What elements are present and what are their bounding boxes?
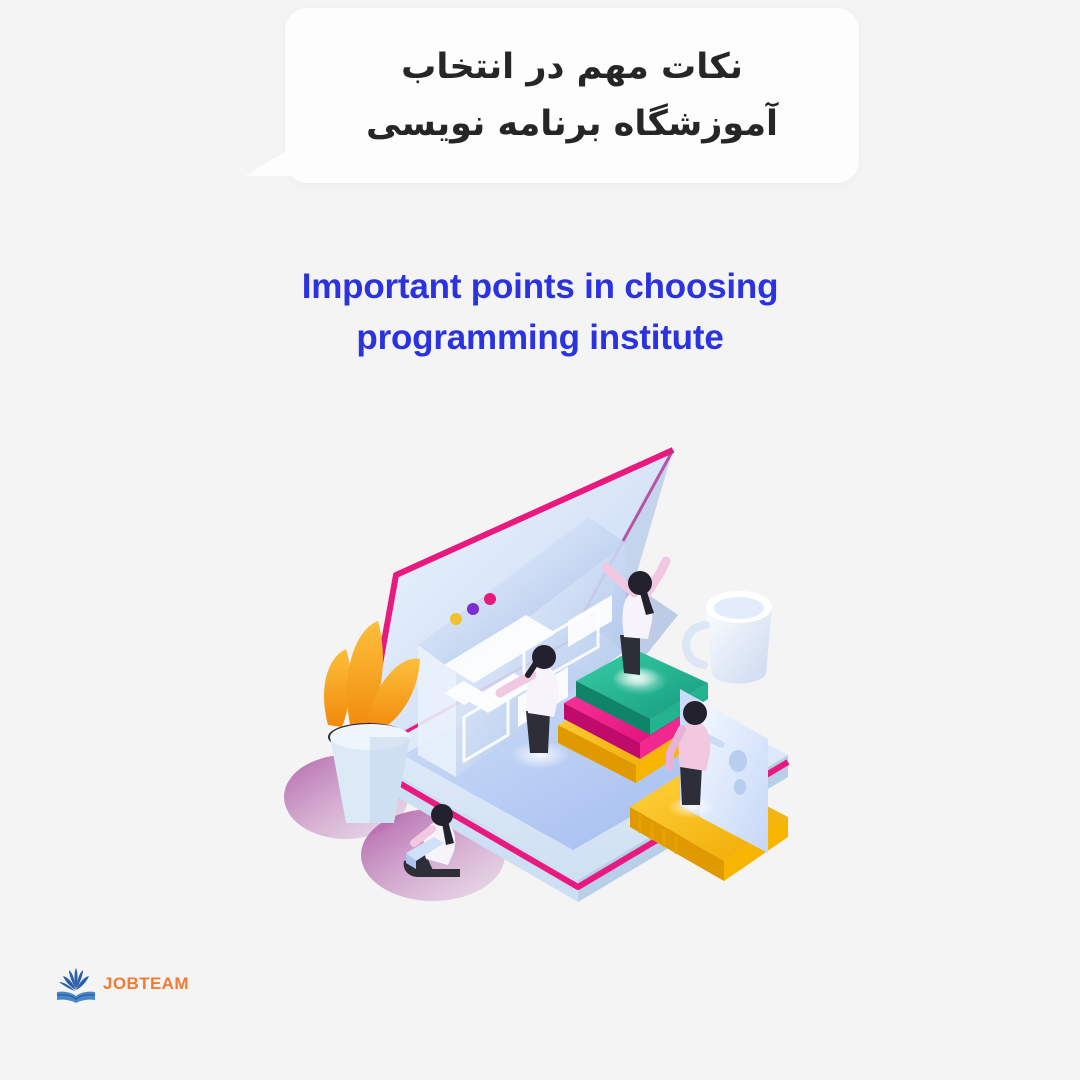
subtitle-group: Important points in choosing programming…	[0, 262, 1080, 364]
brand-logo[interactable]: JOBTEAM	[55, 962, 189, 1006]
brand-name: JOBTEAM	[103, 974, 189, 994]
subtitle-line-1: Important points in choosing	[0, 262, 1080, 313]
subtitle-line-2: programming institute	[0, 313, 1080, 364]
hero-illustration	[268, 425, 813, 925]
headline-line-1: نکات مهم در انتخاب	[401, 43, 743, 92]
open-book-fan-icon	[55, 962, 97, 1006]
headline-group: نکات مهم در انتخاب آموزشگاه برنامه نویسی	[285, 8, 859, 183]
coffee-mug	[686, 591, 772, 684]
browser-dot-purple	[467, 603, 479, 615]
post-canvas: نکات مهم در انتخاب آموزشگاه برنامه نویسی…	[0, 0, 1080, 1080]
headline-line-2: آموزشگاه برنامه نویسی	[366, 100, 778, 149]
browser-dot-magenta	[484, 593, 496, 605]
speech-bubble: نکات مهم در انتخاب آموزشگاه برنامه نویسی	[285, 8, 859, 183]
browser-dot-yellow	[450, 613, 462, 625]
